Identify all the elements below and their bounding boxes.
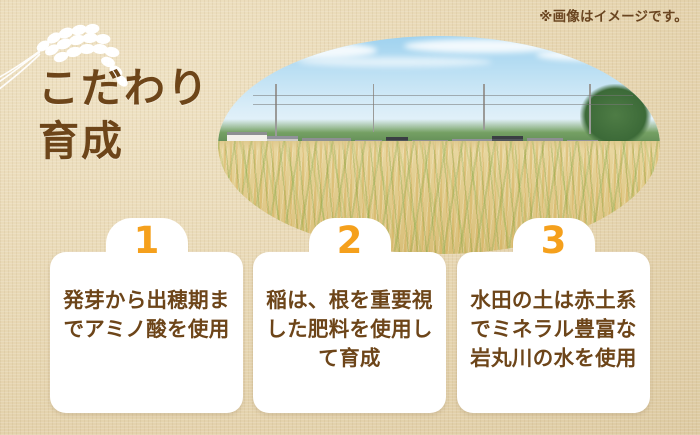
card-number-tab: 1: [106, 218, 188, 280]
feature-card-list: 1 発芽から出穂期までアミノ酸を使用 2 稲は、根を重要視した肥料を使用して育成…: [0, 0, 700, 435]
card-description: 稲は、根を重要視した肥料を使用して育成: [262, 286, 437, 373]
card-number: 3: [513, 222, 595, 259]
card-number: 1: [106, 222, 188, 259]
feature-card-2: 2 稲は、根を重要視した肥料を使用して育成: [253, 252, 446, 413]
feature-card-3: 3 水田の土は赤土系でミネラル豊富な岩丸川の水を使用: [457, 252, 650, 413]
card-description: 水田の土は赤土系でミネラル豊富な岩丸川の水を使用: [466, 286, 641, 373]
card-description: 発芽から出穂期までアミノ酸を使用: [59, 286, 234, 344]
feature-card-1: 1 発芽から出穂期までアミノ酸を使用: [50, 252, 243, 413]
card-number: 2: [309, 222, 391, 259]
card-number-tab: 3: [513, 218, 595, 280]
card-number-tab: 2: [309, 218, 391, 280]
promo-panel: ※画像はイメージです。: [0, 0, 700, 435]
